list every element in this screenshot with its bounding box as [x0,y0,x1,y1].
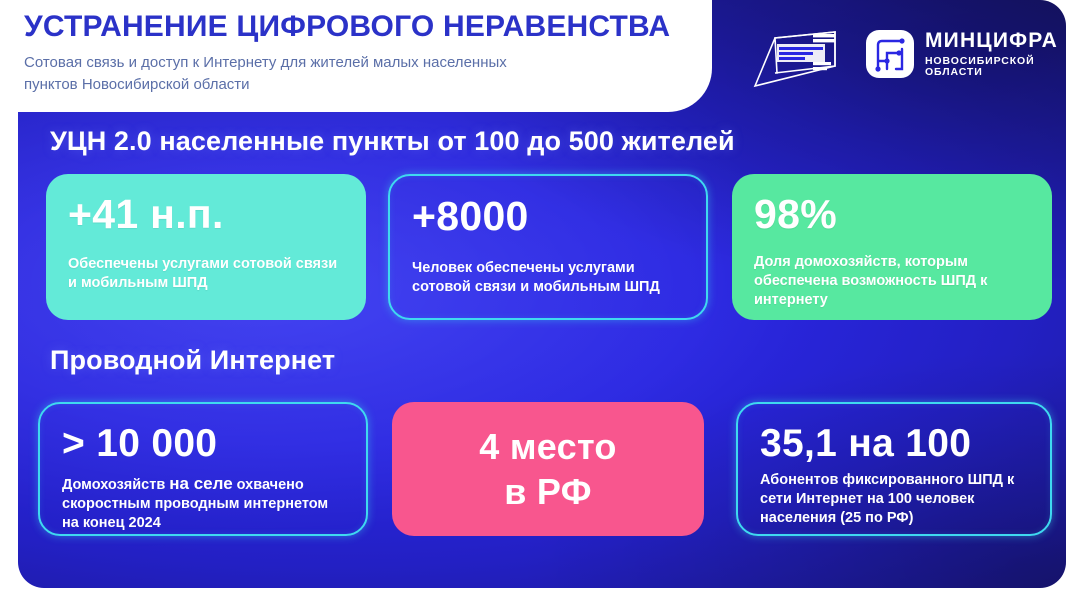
mincifra-logo: МИНЦИФРА НОВОСИБИРСКОЙ ОБЛАСТИ [865,29,1058,79]
page-title: УСТРАНЕНИЕ ЦИФРОВОГО НЕРАВЕНСТВА [24,10,670,44]
stat-card-rank: 4 место в РФ [392,402,704,536]
stat-value-people: +8000 [412,196,684,237]
stat-rank-line1: 4 место [479,424,616,469]
stat-description-people: Человек обеспечены услугами сотовой связ… [412,259,684,297]
mincifra-circuit-mark [865,29,915,79]
stat-description-share: Доля домохозяйств, которым обеспечена во… [754,253,1030,310]
section-title-wired: Проводной Интернет [50,345,335,376]
stat-description-subscribers: Абонентов фиксированного ШПД к сети Инте… [760,471,1028,528]
mincifra-region-line2: ОБЛАСТИ [925,67,1058,78]
page-subtitle: Сотовая связь и доступ к Интернету для ж… [24,52,544,96]
header-block: УСТРАНЕНИЕ ЦИФРОВОГО НЕРАВЕНСТВА Сотовая… [0,0,712,112]
households-desc-emphasis: на селе [169,474,232,493]
stat-value-settlements: +41 н.п. [68,194,344,235]
stat-rank-line2: в РФ [504,469,592,514]
mincifra-name: МИНЦИФРА [925,30,1058,52]
stat-card-settlements: +41 н.п. Обеспечены услугами сотовой свя… [46,174,366,320]
stat-value-households: > 10 000 [62,424,344,463]
stat-card-share: 98% Доля домохозяйств, которым обеспечен… [732,174,1052,320]
stat-card-people: +8000 Человек обеспечены услугами сотово… [388,174,708,320]
stat-card-subscribers: 35,1 на 100 Абонентов фиксированного ШПД… [736,402,1052,536]
stat-value-share: 98% [754,194,1030,235]
stat-description-households: Домохозяйств на селе охвачено скоростным… [62,473,344,533]
stat-card-households: > 10 000 Домохозяйств на селе охвачено с… [38,402,368,536]
logo-group: МИНЦИФРА НОВОСИБИРСКОЙ ОБЛАСТИ [751,18,1058,90]
mincifra-region-line1: НОВОСИБИРСКОЙ [925,56,1058,67]
national-projects-russia-logo [751,18,843,90]
section-title-ucn: УЦН 2.0 населенные пункты от 100 до 500 … [50,126,735,157]
households-desc-part1: Домохозяйств [62,477,169,493]
slide-root: МИНЦИФРА НОВОСИБИРСКОЙ ОБЛАСТИ УСТРАНЕНИ… [0,0,1080,598]
stat-value-subscribers: 35,1 на 100 [760,424,1028,463]
stat-description-settlements: Обеспечены услугами сотовой связи и моби… [68,255,344,293]
